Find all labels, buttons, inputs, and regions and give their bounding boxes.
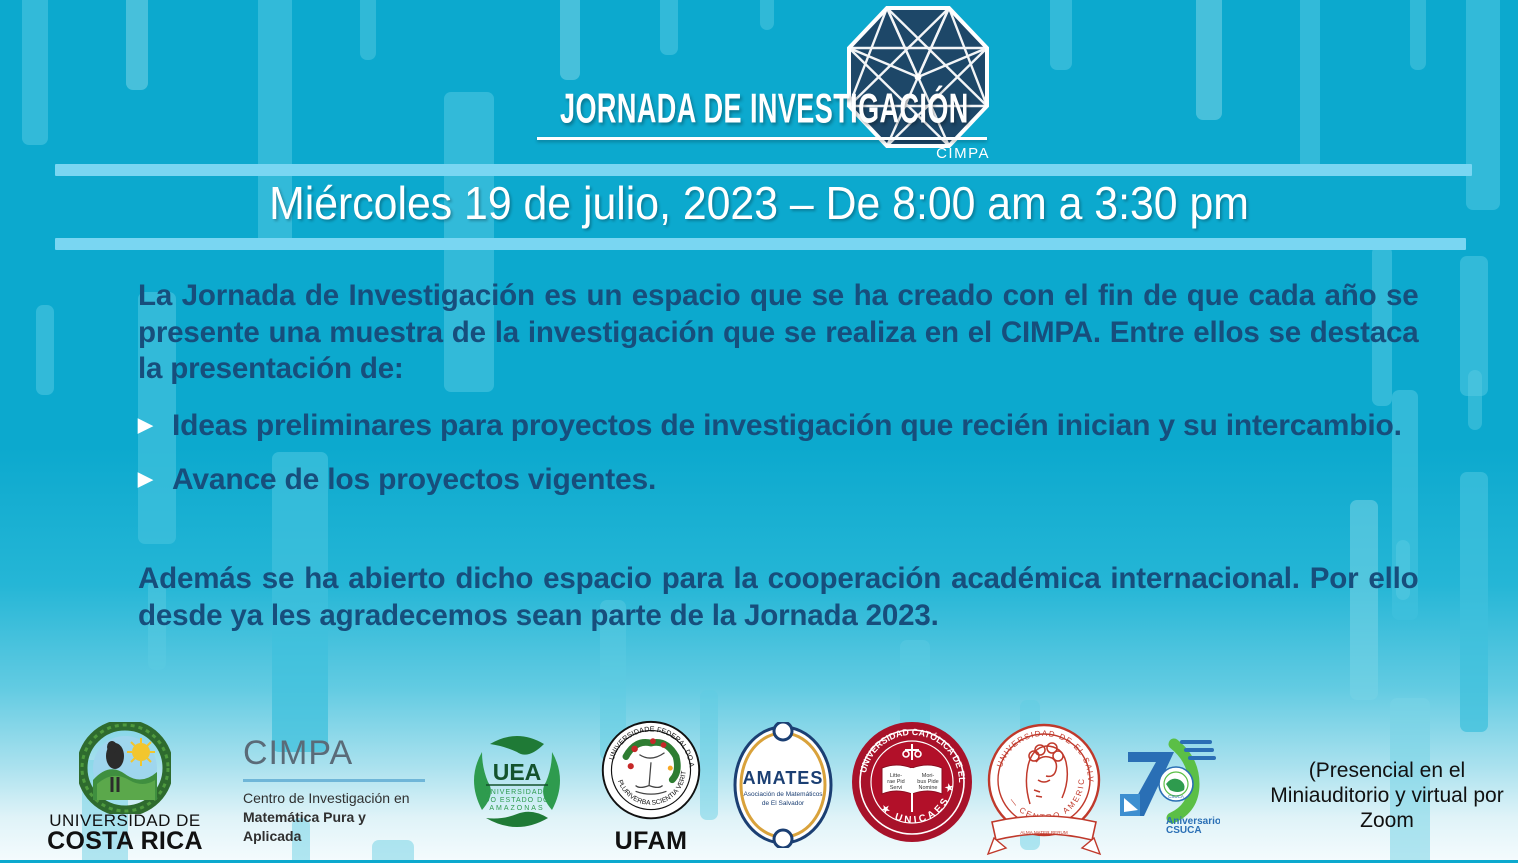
ucr-line2: COSTA RICA: [20, 829, 230, 854]
ucr-crest-icon: [79, 722, 171, 814]
ufam-wordmark: UFAM: [592, 827, 710, 856]
amates-oval-icon: AMATES Asociación de Matemáticos de El S…: [730, 722, 836, 848]
logo-amates: AMATES Asociación de Matemáticos de El S…: [730, 722, 836, 848]
closing-paragraph: Además se ha abierto dicho espacio para …: [138, 561, 1419, 634]
cimpa-divider: [243, 779, 425, 782]
svg-text:Asociación de Matemáticos: Asociación de Matemáticos: [743, 791, 823, 798]
bullet-list: ▶ Ideas preliminares para proyectos de i…: [138, 408, 1438, 499]
banner-rule-top: [55, 164, 1472, 176]
svg-text:CSUCA: CSUCA: [1168, 794, 1184, 799]
svg-text:Nomine: Nomine: [919, 785, 938, 791]
svg-text:CSUCA: CSUCA: [1166, 825, 1202, 836]
csuca-75-anniversary-icon: CSUCA Aniversario CSUCA: [1110, 732, 1220, 836]
logo-csuca: CSUCA Aniversario CSUCA: [1110, 732, 1220, 836]
cimpa-desc-line1: Centro de Investigación en: [243, 789, 443, 808]
logo-cimpa: CIMPA Centro de Investigación en Matemát…: [243, 734, 443, 846]
svg-text:ALMA MATER RERUM: ALMA MATER RERUM: [1020, 830, 1068, 835]
sponsor-logo-row: UNIVERSIDAD DE COSTA RICA CIMPA Centro d…: [0, 712, 1518, 860]
cimpa-wordmark: CIMPA: [243, 734, 443, 773]
list-item: ▶ Ideas preliminares para proyectos de i…: [138, 408, 1438, 445]
logo-unicaes: UNIVERSIDAD CATÓLICA DE EL SALVADOR ★ UN…: [850, 720, 974, 844]
header-divider: [537, 137, 987, 140]
uea-green-leaves-icon: UEA UNIVERSIDADE DO ESTADO DO AMAZONAS: [456, 720, 578, 842]
ucr-wordmark: UNIVERSIDAD DE COSTA RICA: [20, 812, 230, 854]
svg-text:DO ESTADO DO: DO ESTADO DO: [484, 797, 549, 804]
cimpa-desc-line3: Aplicada: [243, 828, 301, 844]
list-item: ▶ Avance de los proyectos vigentes.: [138, 462, 1438, 499]
unicaes-seal-icon: UNIVERSIDAD CATÓLICA DE EL SALVADOR ★ UN…: [850, 720, 974, 844]
ufam-seal-icon: UNIVERSIDADE FEDERAL DO AMAZONAS PLURIVE…: [595, 718, 707, 826]
svg-text:UEA: UEA: [493, 759, 542, 785]
logo-ufam: UNIVERSIDADE FEDERAL DO AMAZONAS PLURIVE…: [592, 718, 710, 856]
date-banner: Miércoles 19 de julio, 2023 – De 8:00 am…: [0, 162, 1518, 257]
svg-text:de El Salvador: de El Salvador: [762, 800, 805, 807]
list-item-label: Ideas preliminares para proyectos de inv…: [172, 408, 1438, 445]
main-content: La Jornada de Investigación es un espaci…: [138, 278, 1438, 634]
triangle-bullet-icon: ▶: [138, 462, 172, 489]
list-item-label: Avance de los proyectos vigentes.: [172, 462, 1438, 499]
logo-ues: UNIVERSIDAD DE EL SALVADOR — CENTRO AMER…: [984, 718, 1104, 858]
event-date-text: Miércoles 19 de julio, 2023 – De 8:00 am…: [53, 176, 1465, 230]
page-title: JORNADA DE INVESTIGACIÓN: [560, 85, 888, 133]
logo-ucr: UNIVERSIDAD DE COSTA RICA: [20, 722, 230, 860]
cimpa-description: Centro de Investigación en Matemática Pu…: [243, 789, 443, 846]
logo-uea: UEA UNIVERSIDADE DO ESTADO DO AMAZONAS: [456, 720, 578, 842]
svg-text:AMAZONAS: AMAZONAS: [489, 805, 544, 812]
header-subtitle: CIMPA: [820, 145, 990, 162]
ues-seal-icon: UNIVERSIDAD DE EL SALVADOR — CENTRO AMER…: [984, 718, 1104, 858]
header: JORNADA DE INVESTIGACIÓN CIMPA: [0, 0, 1518, 170]
svg-text:UNIVERSIDADE: UNIVERSIDADE: [485, 789, 550, 796]
cimpa-desc-line2: Matemática Pura y: [243, 809, 366, 825]
banner-rule-bottom: [55, 238, 1466, 250]
intro-paragraph: La Jornada de Investigación es un espaci…: [138, 278, 1419, 388]
triangle-bullet-icon: ▶: [138, 408, 172, 435]
svg-text:AMATES: AMATES: [743, 768, 824, 788]
modality-note: (Presencial en el Miniauditorio y virtua…: [1258, 758, 1516, 834]
svg-text:Servi: Servi: [890, 785, 903, 791]
